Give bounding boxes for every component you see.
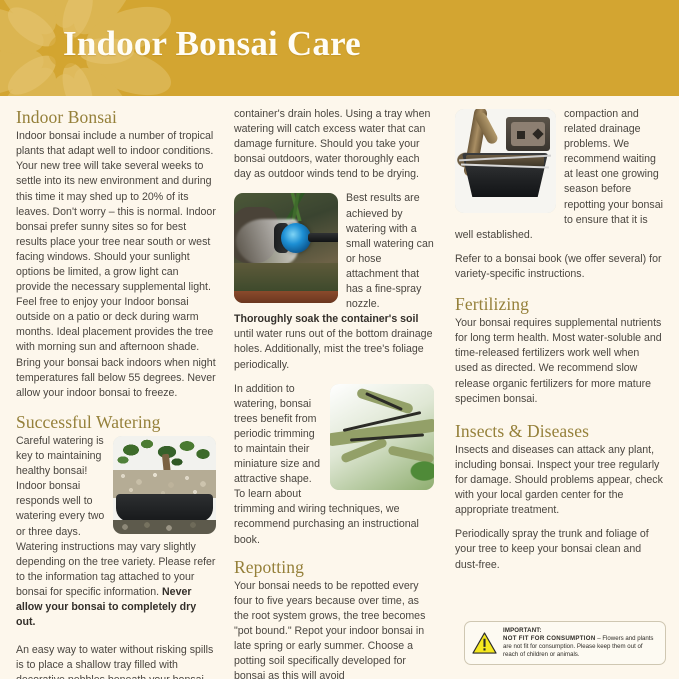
warning-triangle-icon bbox=[472, 632, 497, 655]
spray-nozzle-watering-photo bbox=[234, 193, 338, 303]
column-middle: container's drain holes. Using a tray wh… bbox=[234, 107, 434, 679]
paragraph-insects-2: Periodically spray the trunk and foliage… bbox=[455, 527, 664, 572]
wired-bonsai-branch-photo bbox=[330, 384, 434, 490]
paragraph-indoor-bonsai: Indoor bonsai include a number of tropic… bbox=[16, 129, 216, 401]
paragraph-repotting: Your bonsai needs to be repotted every f… bbox=[234, 579, 434, 679]
heading-fertilizing: Fertilizing bbox=[455, 294, 664, 314]
page-header: Indoor Bonsai Care bbox=[0, 0, 679, 96]
heading-repotting: Repotting bbox=[234, 557, 434, 577]
poster-body: Indoor Bonsai Indoor bonsai include a nu… bbox=[0, 96, 679, 679]
heading-insects-diseases: Insects & Diseases bbox=[455, 421, 664, 441]
heading-indoor-bonsai: Indoor Bonsai bbox=[16, 107, 216, 127]
column-left: Indoor Bonsai Indoor bonsai include a nu… bbox=[16, 107, 216, 679]
poster-page: Indoor Bonsai Care Indoor Bonsai Indoor … bbox=[0, 0, 679, 679]
best-results-tail: until water runs out of the bottom drain… bbox=[234, 328, 432, 370]
warning-title-line1: IMPORTANT: bbox=[503, 627, 658, 635]
paragraph-insects-1: Insects and diseases can attack any plan… bbox=[455, 443, 664, 518]
page-title: Indoor Bonsai Care bbox=[63, 24, 361, 64]
best-results-bold: Thoroughly soak the container's soil bbox=[234, 313, 418, 325]
paragraph-drain-holes: container's drain holes. Using a tray wh… bbox=[234, 107, 434, 182]
paragraph-watering-tray: An easy way to water without risking spi… bbox=[16, 639, 216, 679]
bonsai-in-dark-pot-photo bbox=[113, 436, 216, 534]
paragraph-refer-book: Refer to a bonsai book (we offer several… bbox=[455, 252, 664, 282]
best-results-lead: Best results are achieved by watering wi… bbox=[346, 192, 434, 310]
paragraph-fertilizing: Your bonsai requires supplemental nutrie… bbox=[455, 316, 664, 407]
important-warning-box: IMPORTANT:NOT FIT FOR CONSUMPTION – Flow… bbox=[464, 621, 666, 665]
bonsai-pot-drain-holes-photo bbox=[455, 109, 556, 213]
warning-text-block: IMPORTANT:NOT FIT FOR CONSUMPTION – Flow… bbox=[503, 627, 658, 660]
warning-title-line2: NOT FIT FOR CONSUMPTION bbox=[503, 635, 596, 642]
heading-successful-watering: Successful Watering bbox=[16, 412, 216, 432]
column-right: compaction and related drainage problems… bbox=[455, 107, 664, 573]
